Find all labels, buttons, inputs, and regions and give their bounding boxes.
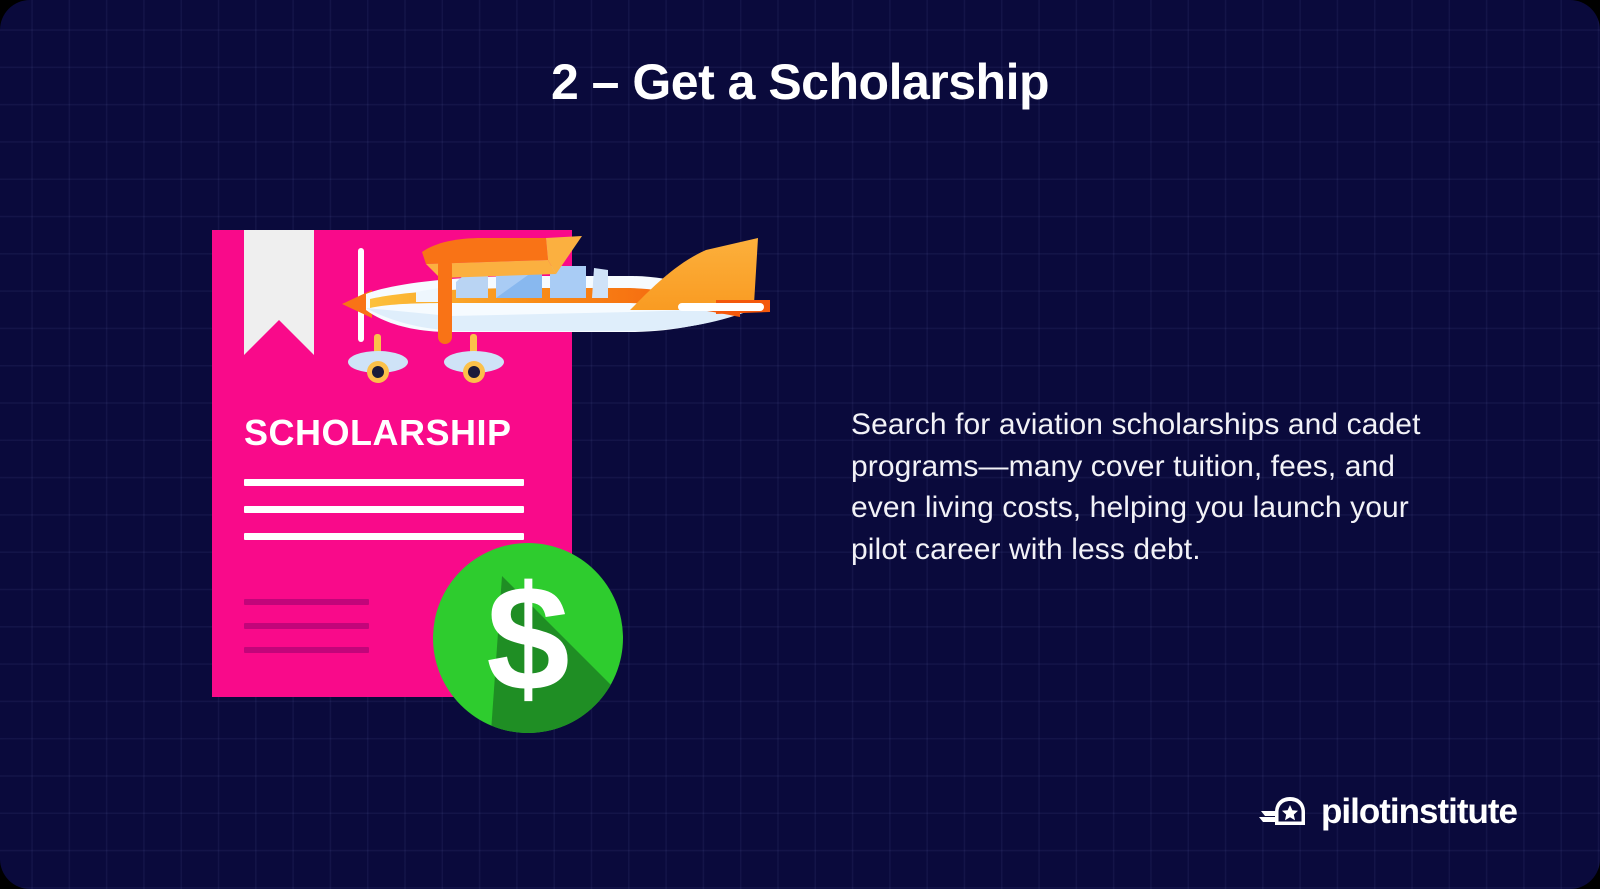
rear-window	[592, 268, 608, 298]
card-rule-line	[244, 533, 524, 540]
wheel-hub-front	[372, 366, 384, 378]
card-rule-line	[244, 506, 524, 513]
card-secondary-rule-line	[244, 647, 369, 653]
dollar-coin-icon: $	[430, 540, 626, 736]
scholarship-illustration: SCHOLARSHIP	[212, 230, 772, 730]
brand-logo: pilotinstitute	[1259, 794, 1517, 829]
tail-fin	[630, 238, 758, 310]
wing-strut	[438, 258, 452, 344]
card-secondary-rule-line	[244, 599, 369, 605]
cessna-airplane-icon	[330, 230, 770, 390]
bookmark-ribbon-icon	[244, 230, 314, 355]
pilot-institute-wing-shield-star-icon	[1259, 795, 1311, 829]
card-rule-line	[244, 479, 524, 486]
page-title: 2 – Get a Scholarship	[0, 55, 1600, 110]
coin-dollar-glyph: $	[486, 554, 569, 722]
body-paragraph: Search for aviation scholarships and cad…	[851, 404, 1431, 570]
scholarship-card-title: SCHOLARSHIP	[244, 412, 512, 454]
wheel-hub-rear	[468, 366, 480, 378]
card-secondary-rule-line	[244, 623, 369, 629]
brand-logo-text: pilotinstitute	[1321, 794, 1517, 829]
slide-canvas: 2 – Get a Scholarship SCHOLARSHIP	[0, 0, 1600, 889]
stabilizer-highlight	[678, 303, 764, 311]
